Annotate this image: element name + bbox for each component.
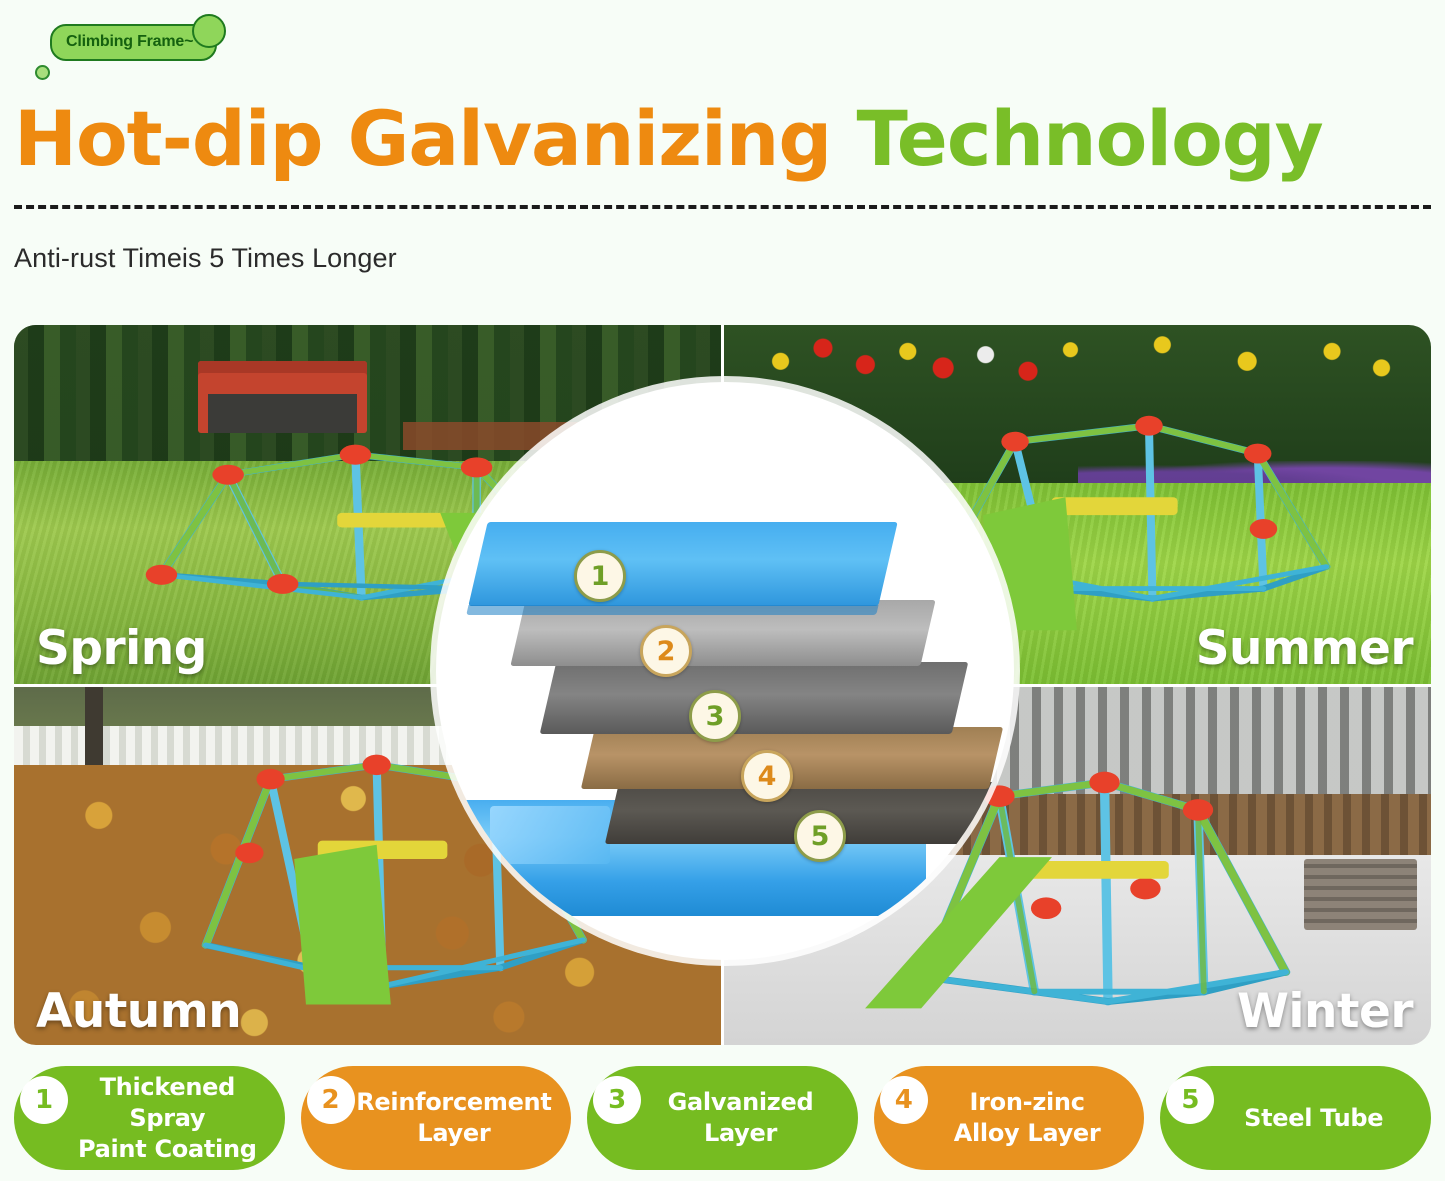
legend-label-2: Reinforcement Layer [356, 1087, 551, 1149]
page-title: Hot-dip Galvanizing Technology [14, 96, 1420, 182]
diagram-badge-2: 2 [640, 625, 692, 677]
legend-label-1: Thickened Spray Paint Coating [60, 1072, 275, 1165]
season-label-winter: Winter [1237, 984, 1413, 1039]
legend-number-5: 5 [1166, 1076, 1214, 1124]
diagram-badge-3: 3 [689, 690, 741, 742]
diagram-badge-5: 5 [794, 810, 846, 862]
season-label-spring: Spring [36, 621, 207, 676]
diagram-badge-4: 4 [741, 750, 793, 802]
legend-bar: 1 Thickened Spray Paint Coating 2 Reinfo… [14, 1066, 1431, 1170]
legend-item-4[interactable]: 4 Iron-zinc Alloy Layer [874, 1066, 1145, 1170]
diagram-badge-1: 1 [574, 550, 626, 602]
steel-tube-highlight [490, 806, 610, 864]
legend-label-3: Galvanized Layer [668, 1087, 814, 1149]
legend-number-4: 4 [880, 1076, 928, 1124]
layer-diagram-callout: 1 2 3 4 5 [436, 382, 1014, 960]
legend-item-3[interactable]: 3 Galvanized Layer [587, 1066, 858, 1170]
page-title-part1: Hot-dip Galvanizing [14, 94, 831, 183]
brand-dot-small-icon [35, 65, 50, 80]
legend-label-5: Steel Tube [1244, 1103, 1383, 1134]
brand-dot-large-icon [192, 14, 226, 48]
legend-label-4: Iron-zinc Alloy Layer [954, 1087, 1101, 1149]
season-label-summer: Summer [1196, 621, 1413, 676]
legend-item-2[interactable]: 2 Reinforcement Layer [301, 1066, 572, 1170]
coating-layer-stack: 1 2 3 4 5 [436, 382, 1014, 960]
layer-shape-3 [540, 662, 969, 734]
legend-item-1[interactable]: 1 Thickened Spray Paint Coating [14, 1066, 285, 1170]
legend-number-3: 3 [593, 1076, 641, 1124]
layer-shape-1 [468, 522, 897, 606]
page-title-part2: Technology [856, 94, 1322, 183]
title-divider [14, 205, 1431, 209]
season-label-autumn: Autumn [36, 984, 241, 1039]
legend-item-5[interactable]: 5 Steel Tube [1160, 1066, 1431, 1170]
page-subtitle: Anti-rust Timeis 5 Times Longer [14, 243, 397, 274]
legend-number-2: 2 [307, 1076, 355, 1124]
legend-number-1: 1 [20, 1076, 68, 1124]
brand-badge: Climbing Frame~ [18, 10, 238, 80]
